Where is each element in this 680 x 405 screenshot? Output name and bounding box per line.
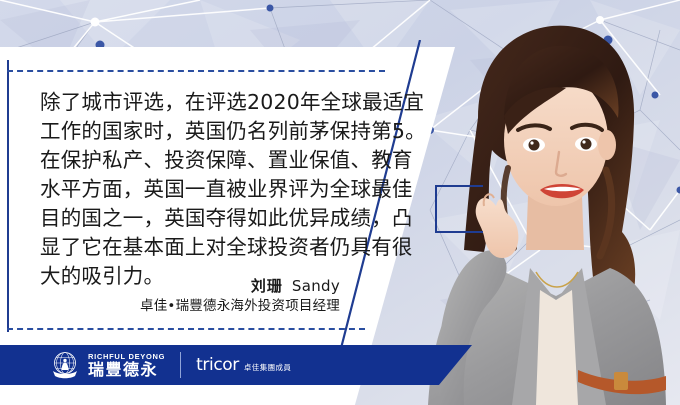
quote-line: 水平方面，英国一直被业界评为全球最佳 (40, 175, 370, 204)
globe-emblem-icon (50, 350, 80, 380)
blue-rectangle-accent (435, 185, 483, 233)
speaker-name-cn: 刘珊 (251, 277, 283, 295)
speaker-role: 卓佳•瑞豐德永海外投资项目经理 (40, 296, 340, 317)
footer-divider (180, 352, 181, 378)
quote-line: 工作的国家时，英国仍名列前茅保持第5。 (40, 117, 370, 146)
dashed-rule-bottom (7, 328, 365, 330)
quote-line: 目的国之一，英国夺得如此优异成绩，凸 (40, 204, 370, 233)
partner-name: tricor (196, 356, 239, 374)
quote-text: 除了城市评选，在评选2020年全球最适宜 工作的国家时，英国仍名列前茅保持第5。… (40, 88, 370, 291)
speaker-name-en: Sandy (292, 277, 340, 295)
brand-lockup: RICHFUL DEYONG 瑞豐德永 (88, 352, 165, 379)
quote-line: 在保护私产、投资保障、置业保值、教育 (40, 146, 370, 175)
quote-card: 除了城市评选，在评选2020年全球最适宜 工作的国家时，英国仍名列前茅保持第5。… (0, 0, 680, 405)
brand-name-cn: 瑞豐德永 (88, 361, 165, 379)
partner-name-cn: 卓佳集團成員 (244, 362, 291, 373)
attribution-name-row: 刘珊Sandy (40, 276, 340, 296)
quote-line: 除了城市评选，在评选2020年全球最适宜 (40, 88, 370, 117)
partner-lockup: tricor 卓佳集團成員 (196, 356, 291, 374)
left-accent-rule (7, 60, 9, 332)
quote-line: 显了它在基本面上对全球投资者仍具有很 (40, 233, 370, 262)
dashed-rule-top (7, 70, 385, 72)
footer-branding: RICHFUL DEYONG 瑞豐德永 tricor 卓佳集團成員 (50, 349, 291, 381)
attribution: 刘珊Sandy 卓佳•瑞豐德永海外投资项目经理 (40, 276, 340, 317)
